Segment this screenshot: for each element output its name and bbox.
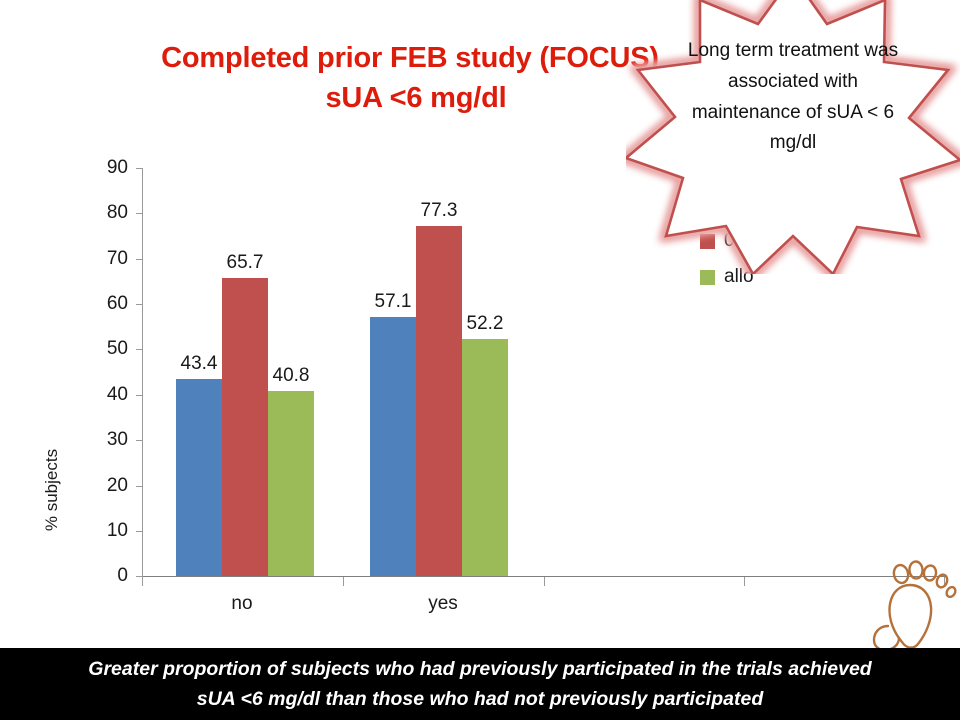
bar-label-yes-green: 52.2 [450,314,520,333]
y-tick-10 [136,531,143,532]
bar-label-no-red: 65.7 [210,253,280,272]
y-label-70: 70 [78,249,128,268]
x-tick-1 [343,577,344,586]
y-label-90: 90 [78,158,128,177]
y-label-30: 30 [78,430,128,449]
caption-line-2: sUA <6 mg/dl than those who had not prev… [197,684,763,714]
y-tick-60 [136,304,143,305]
y-tick-70 [136,259,143,260]
y-tick-90 [136,168,143,169]
y-label-20: 20 [78,476,128,495]
slide-root: Completed prior FEB study (FOCUS) sUA <6… [0,0,960,720]
y-tick-30 [136,440,143,441]
y-label-40: 40 [78,385,128,404]
y-label-0: 0 [78,566,128,585]
x-label-no: no [182,593,302,615]
caption-bar: Greater proportion of subjects who had p… [0,648,960,720]
y-tick-80 [136,213,143,214]
x-tick-2 [544,577,545,586]
x-tick-0 [142,577,143,586]
footprint-icon [868,552,960,652]
bar-no-blue[interactable] [176,379,222,576]
y-label-10: 10 [78,521,128,540]
caption-line-1: Greater proportion of subjects who had p… [88,654,871,684]
x-label-yes: yes [383,593,503,615]
star-callout: Long term treatment was associated with … [626,0,960,274]
y-axis-title: % subjects [42,420,62,560]
y-tick-20 [136,486,143,487]
bar-yes-blue[interactable] [370,317,416,576]
y-label-60: 60 [78,294,128,313]
bar-no-green[interactable] [268,391,314,576]
x-tick-3 [744,577,745,586]
bar-label-no-green: 40.8 [256,366,326,385]
y-tick-50 [136,349,143,350]
bar-label-yes-red: 77.3 [404,201,474,220]
y-tick-40 [136,395,143,396]
y-label-80: 80 [78,203,128,222]
bar-yes-red[interactable] [416,226,462,576]
bar-no-red[interactable] [222,278,268,576]
bar-yes-green[interactable] [462,339,508,576]
callout-text: Long term treatment was associated with … [678,36,908,159]
y-axis-line [142,168,143,576]
y-label-50: 50 [78,339,128,358]
